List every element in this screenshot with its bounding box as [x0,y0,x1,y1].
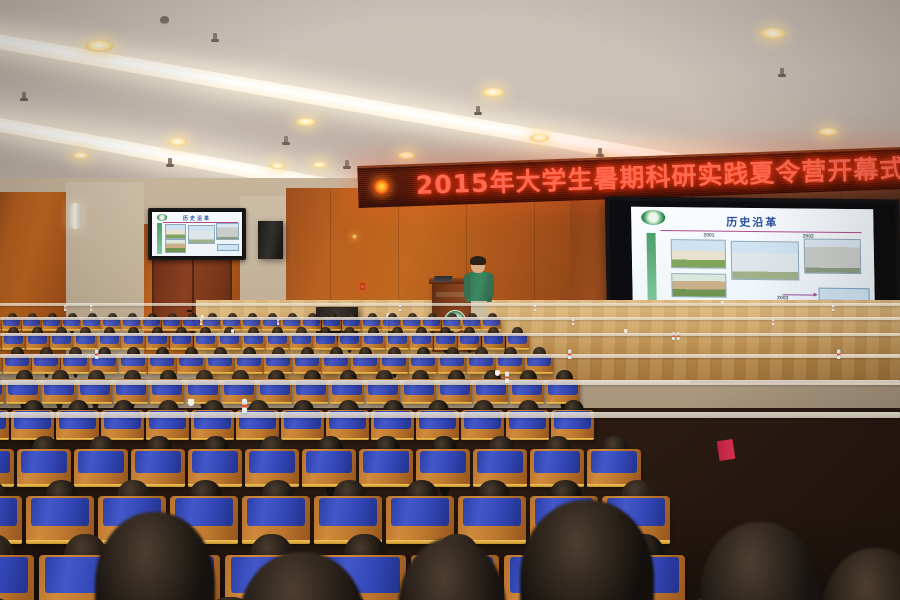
slide-photo-center [731,241,799,280]
paper-cup [624,329,627,333]
seat-cushion [78,451,124,473]
water-bottle [672,332,675,340]
foreground-audience-member [700,522,820,600]
writing-desk [0,354,900,358]
presenter-hair [470,256,486,265]
water-bottle [90,305,92,311]
seat-cushion [0,557,28,592]
seat-cushion [0,498,17,526]
sprinkler-icon [22,92,26,100]
writing-desk [0,317,900,320]
downlight-icon [482,88,504,97]
wall-lcd-monitor: 历史沿革 [148,208,246,260]
water-bottle [200,319,202,325]
water-bottle [242,399,247,413]
sprinkler-icon [168,158,172,166]
downlight-icon [530,134,549,142]
water-bottle [277,319,279,325]
slide-photo [165,239,187,252]
sprinkler-icon [213,33,217,41]
paper-cup [231,329,234,333]
seat-cushion [247,498,305,526]
smoke-detector-icon [160,16,169,23]
seat-cushion [534,451,580,473]
wall-indicator-light-red [360,283,365,290]
audience-seating [0,300,900,600]
slide-side-text-band [646,233,657,303]
seat-trim [0,348,1,350]
slide-title: 历史沿革 [631,213,873,232]
seat-cushion [463,498,521,526]
slide-content: 历史沿革 2001 2002 2003 [631,207,875,311]
paper-cup [495,370,500,376]
slide-title: 历史沿革 [152,215,242,222]
paper-cup [721,301,724,304]
downlight-icon [760,28,786,39]
water-bottle [95,349,98,359]
water-bottle [568,349,571,359]
sprinkler-icon [598,148,602,156]
lcd-slide: 历史沿革 [152,212,242,256]
seat-cushion [591,451,637,473]
water-bottle [505,372,509,383]
downlight-icon [312,162,327,168]
downlight-icon [85,40,113,52]
sprinkler-icon [345,160,349,168]
writing-desk [0,303,900,306]
seat-cushion [391,498,449,526]
water-bottle [837,349,840,359]
slide-photo-2002 [803,239,861,274]
downlight-icon [296,118,316,126]
slide-photo-lower [671,273,727,298]
seat-trim [0,329,1,331]
seat-cushion [306,451,352,473]
water-bottle [832,305,834,311]
water-bottle [534,305,536,311]
presenter-arm-left [464,274,470,298]
slide-mini-content: 历史沿革 [152,212,242,256]
sprinkler-icon [780,68,784,76]
paper-cup [201,315,204,318]
seat-cushion [21,451,67,473]
slide-photo [165,224,187,238]
foreground-audience-member [820,548,900,600]
writing-desk [0,412,900,418]
seat-cushion [363,451,409,473]
seat-cushion [192,451,238,473]
downlight-icon [72,152,89,159]
paper-cup [188,399,194,406]
sprinkler-icon [476,106,480,114]
writing-desk [0,380,900,385]
seat-cushion [135,451,181,473]
water-bottle [572,319,574,325]
slide-side-band [157,223,162,255]
auditorium-seat[interactable] [0,555,34,600]
wall-sconce [70,203,81,229]
projection-screen-surface: 历史沿革 2001 2002 2003 [631,207,875,311]
slide-photo [216,223,240,240]
wall-speaker [258,221,283,259]
red-folder [717,439,736,461]
seat-cushion [477,451,523,473]
downlight-icon [818,128,838,136]
water-bottle [772,319,774,325]
university-emblem-icon [374,179,390,195]
water-bottle [64,305,66,311]
auditorium-photo: 历史沿革 2015年大学生暑期科研实践夏令营开幕式 历史沿革 2001 [0,0,900,600]
wall-indicator-light [352,234,357,239]
water-bottle [399,305,401,311]
podium-laptop [433,276,452,282]
downlight-icon [270,163,285,169]
seat-cushion [319,498,377,526]
seat-cushion [420,451,466,473]
sprinkler-icon [284,136,288,144]
presenter-arm-right [488,274,494,298]
slide-photo-2001 [670,239,726,268]
water-bottle [677,332,680,340]
slide-photo [188,225,215,244]
downlight-icon [398,152,415,159]
seat-cushion [0,451,10,473]
seat-cushion [31,498,89,526]
writing-desk [0,333,900,336]
downlight-icon [168,138,187,146]
slide-year-label: 2001 [690,233,729,239]
slide-callout-box [217,244,239,251]
seat-cushion [249,451,295,473]
